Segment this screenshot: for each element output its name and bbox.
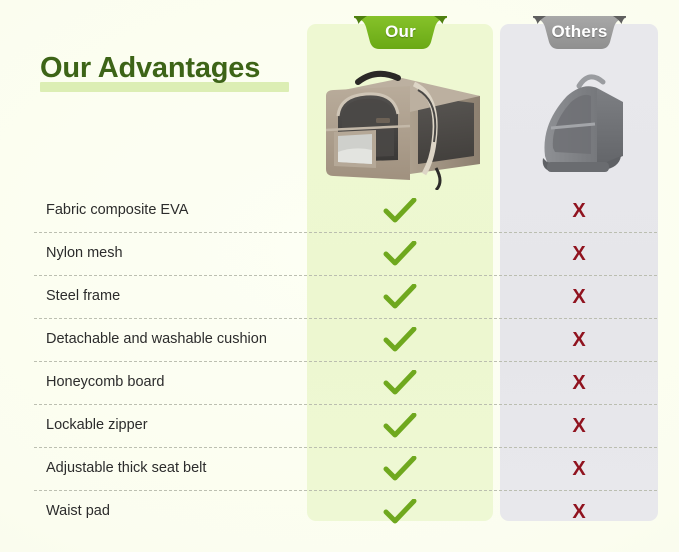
others-mark-cell: X <box>500 447 658 490</box>
others-product-image <box>527 62 637 184</box>
our-mark-cell <box>307 490 493 533</box>
cross-icon: X <box>572 373 585 393</box>
our-mark-cell <box>307 232 493 275</box>
cross-icon: X <box>572 287 585 307</box>
cross-icon: X <box>572 502 585 522</box>
feature-label: Detachable and washable cushion <box>46 318 267 361</box>
check-icon <box>383 198 417 224</box>
check-icon <box>383 284 417 310</box>
check-icon <box>383 241 417 267</box>
table-row: Adjustable thick seat beltX <box>0 447 679 490</box>
our-mark-cell <box>307 404 493 447</box>
feature-comparison-table: Fabric composite EVAXNylon meshXSteel fr… <box>0 189 679 533</box>
others-mark-cell: X <box>500 490 658 533</box>
check-icon <box>383 413 417 439</box>
our-mark-cell <box>307 361 493 404</box>
table-row: Nylon meshX <box>0 232 679 275</box>
others-mark-cell: X <box>500 361 658 404</box>
cross-icon: X <box>572 459 585 479</box>
page-title-group: Our Advantages <box>40 52 300 94</box>
feature-label: Adjustable thick seat belt <box>46 447 206 490</box>
cross-icon: X <box>572 416 585 436</box>
table-row: Waist padX <box>0 490 679 533</box>
check-icon <box>383 456 417 482</box>
table-row: Fabric composite EVAX <box>0 189 679 232</box>
others-mark-cell: X <box>500 318 658 361</box>
our-mark-cell <box>307 447 493 490</box>
check-icon <box>383 327 417 353</box>
table-row: Steel frameX <box>0 275 679 318</box>
our-mark-cell <box>307 275 493 318</box>
cross-icon: X <box>572 330 585 350</box>
comparison-infographic: Our Others Our Advantages <box>0 0 679 552</box>
cross-icon: X <box>572 244 585 264</box>
check-icon <box>383 499 417 525</box>
table-row: Honeycomb boardX <box>0 361 679 404</box>
our-product-image <box>314 56 490 190</box>
feature-label: Waist pad <box>46 490 110 533</box>
our-badge-label: Our <box>354 16 447 49</box>
our-mark-cell <box>307 318 493 361</box>
others-mark-cell: X <box>500 404 658 447</box>
others-mark-cell: X <box>500 232 658 275</box>
page-title: Our Advantages <box>40 52 260 85</box>
feature-label: Nylon mesh <box>46 232 123 275</box>
feature-label: Honeycomb board <box>46 361 165 404</box>
others-badge-label: Others <box>533 16 626 49</box>
others-mark-cell: X <box>500 189 658 232</box>
check-icon <box>383 370 417 396</box>
our-column-badge: Our <box>354 16 447 49</box>
feature-label: Fabric composite EVA <box>46 189 188 232</box>
feature-label: Lockable zipper <box>46 404 148 447</box>
cross-icon: X <box>572 201 585 221</box>
table-row: Lockable zipperX <box>0 404 679 447</box>
others-column-badge: Others <box>533 16 626 49</box>
others-mark-cell: X <box>500 275 658 318</box>
feature-label: Steel frame <box>46 275 120 318</box>
our-mark-cell <box>307 189 493 232</box>
table-row: Detachable and washable cushionX <box>0 318 679 361</box>
